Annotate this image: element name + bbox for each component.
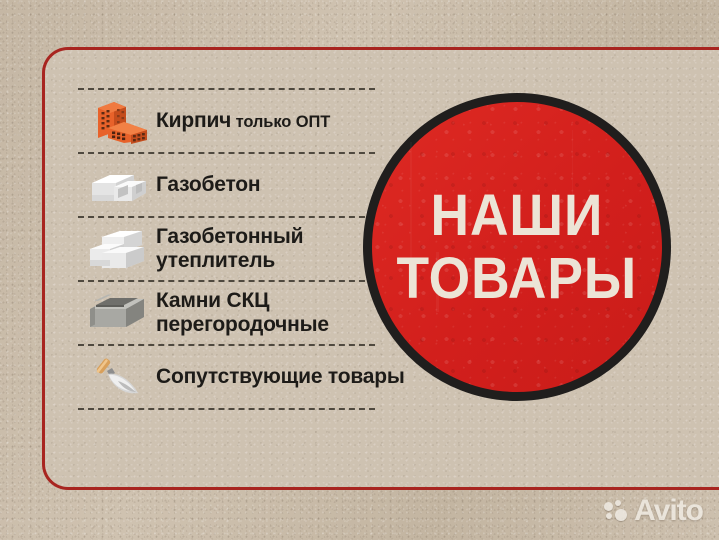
our-products-badge: НАШИ ТОВАРЫ — [363, 93, 671, 401]
list-item[interactable]: Газобетонный утеплитель — [78, 218, 375, 280]
badge-scratch — [410, 142, 412, 262]
list-item-label-main: Газобетонный — [156, 225, 375, 249]
trowel-icon — [78, 353, 156, 401]
list-item-label-main: Камни СКЦ — [156, 289, 375, 313]
concrete-partition-stone-icon — [78, 289, 156, 337]
list-item-label: Сопутствующие товары — [156, 365, 405, 389]
avito-dots-logo-icon — [604, 500, 629, 522]
list-item-label: Газобетон — [156, 173, 375, 197]
list-divider — [78, 408, 375, 410]
list-item-label-main: Газобетон — [156, 173, 260, 196]
avito-watermark: Avito — [604, 494, 703, 528]
badge-title-line1: НАШИ — [431, 186, 604, 245]
list-divider — [78, 280, 375, 282]
brick-icon — [78, 96, 156, 146]
list-item-label-main: Кирпич — [156, 109, 231, 132]
aerated-concrete-block-icon — [78, 161, 156, 209]
product-list: Кирпич только ОПТ — [78, 88, 375, 410]
list-item-label-sub: только ОПТ — [236, 113, 331, 131]
list-divider — [78, 344, 375, 346]
list-divider — [78, 88, 375, 90]
list-item-label-main2: утеплитель — [156, 249, 375, 273]
badge-title-line2: ТОВАРЫ — [397, 249, 638, 308]
list-item-label: Кирпич только ОПТ — [156, 109, 375, 133]
list-item-label: Газобетонный утеплитель — [156, 225, 375, 272]
list-item[interactable]: Камни СКЦ перегородочные — [78, 282, 375, 344]
list-divider — [78, 152, 375, 154]
list-item[interactable]: Кирпич только ОПТ — [78, 90, 375, 152]
list-item[interactable]: Сопутствующие товары — [78, 346, 375, 408]
list-item[interactable]: Газобетон — [78, 154, 375, 216]
poster-canvas: Кирпич только ОПТ — [0, 0, 719, 540]
aerated-concrete-insulation-icon — [78, 223, 156, 275]
list-divider — [78, 216, 375, 218]
avito-wordmark: Avito — [634, 494, 703, 528]
list-item-label-main2: перегородочные — [156, 313, 375, 337]
list-item-label: Камни СКЦ перегородочные — [156, 289, 375, 336]
list-item-label-main: Сопутствующие товары — [156, 365, 405, 388]
